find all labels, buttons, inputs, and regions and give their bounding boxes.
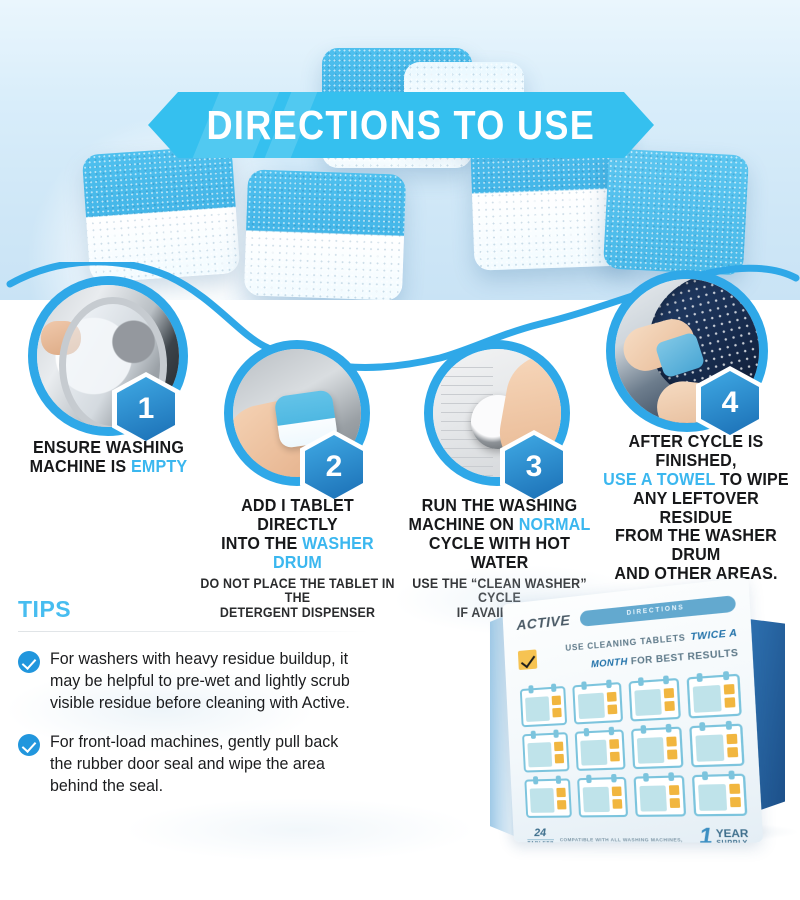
step-1-caption: ENSURE WASHING MACHINE IS EMPTY xyxy=(14,438,203,476)
steps-section: 1 ENSURE WASHING MACHINE IS EMPTY 2 ADD … xyxy=(0,262,800,602)
page-title-banner: DIRECTIONS TO USE xyxy=(148,92,654,158)
step-3-highlight: NORMAL xyxy=(519,514,591,534)
product-supply-number: 1 xyxy=(699,827,714,842)
calendar-icon xyxy=(686,674,742,719)
step-4-caption: AFTER CYCLE IS FINISHED, USE A TOWEL TO … xyxy=(600,432,791,583)
product-brand-label: ACTIVE xyxy=(516,611,570,633)
calendar-icon xyxy=(520,686,568,727)
step-1-line-2: MACHINE IS xyxy=(30,456,131,476)
step-4-line-4: FROM THE WASHER DRUM xyxy=(600,526,791,564)
calendar-icon xyxy=(633,775,686,817)
step-3-number: 3 xyxy=(505,435,563,499)
directions-to-use-infographic: DIRECTIONS TO USE 1 ENSURE WASHING MACHI… xyxy=(0,0,800,900)
tips-section: TIPS For washers with heavy residue buil… xyxy=(18,596,368,798)
tip-item: For washers with heavy residue buildup, … xyxy=(18,649,368,715)
product-usage-note: USE CLEANING TABLETS TWICE A MONTH FOR B… xyxy=(517,622,738,678)
calendar-icon xyxy=(572,682,622,725)
step-1-number: 1 xyxy=(117,377,175,441)
tip-2-text: For front-load machines, gently pull bac… xyxy=(50,732,358,798)
step-2-number: 2 xyxy=(305,435,363,499)
calendar-icon xyxy=(575,729,625,771)
calendar-icon xyxy=(692,774,748,817)
step-1-line-1: ENSURE WASHING xyxy=(14,438,203,457)
product-box-footer: 24 TABLETS COMPATIBLE WITH ALL WASHING M… xyxy=(527,826,749,843)
tip-item: For front-load machines, gently pull bac… xyxy=(18,732,368,798)
product-box-image: ACTIVE DIRECTIONS USE CLEANING TABLETS T… xyxy=(380,592,800,882)
product-compatibility-text: COMPATIBLE WITH ALL WASHING MACHINES, IN… xyxy=(560,837,693,843)
page-title: DIRECTIONS TO USE xyxy=(207,102,596,149)
step-3-line-2: MACHINE ON xyxy=(408,514,518,534)
check-circle-icon xyxy=(18,651,40,673)
step-4-highlight: USE A TOWEL xyxy=(603,469,715,489)
product-quantity-number: 24 xyxy=(527,827,554,839)
product-calendar-grid xyxy=(520,674,748,818)
product-note-line-2: FOR BEST RESULTS xyxy=(627,647,738,667)
product-directions-bar: DIRECTIONS xyxy=(580,595,736,627)
product-quantity: 24 TABLETS xyxy=(527,827,555,843)
step-4-line-1: AFTER CYCLE IS FINISHED, xyxy=(600,432,791,470)
step-2-line-2: INTO THE xyxy=(221,533,302,553)
product-supply-label: SUPPLY xyxy=(716,840,749,843)
step-4-line-2: TO WIPE xyxy=(715,469,789,489)
calendar-icon xyxy=(577,777,627,818)
step-2-line-1: ADD I TABLET DIRECTLY xyxy=(199,496,397,534)
calendar-icon xyxy=(628,678,681,722)
product-box-front-panel: ACTIVE DIRECTIONS USE CLEANING TABLETS T… xyxy=(502,577,763,843)
tip-1-text: For washers with heavy residue buildup, … xyxy=(50,649,358,715)
step-4-line-3: ANY LEFTOVER RESIDUE xyxy=(600,489,791,527)
product-supply-unit: YEAR xyxy=(716,829,749,840)
tips-divider xyxy=(18,631,368,632)
calendar-icon xyxy=(524,778,572,818)
step-4-number: 4 xyxy=(701,371,759,435)
tablet-block-right xyxy=(603,148,749,275)
checkbox-checked-icon xyxy=(518,649,537,670)
calendar-icon xyxy=(689,724,745,768)
product-note-line-1: USE CLEANING TABLETS xyxy=(565,633,686,653)
calendar-icon xyxy=(522,732,570,772)
step-1-highlight: EMPTY xyxy=(131,456,187,476)
calendar-icon xyxy=(630,727,683,770)
check-circle-icon xyxy=(18,734,40,756)
tips-title: TIPS xyxy=(18,596,368,623)
step-4-line-5: AND OTHER AREAS. xyxy=(600,564,791,583)
step-3-line-1: RUN THE WASHING xyxy=(401,496,599,515)
product-note-lines: USE CLEANING TABLETS TWICE A MONTH FOR B… xyxy=(543,622,739,677)
product-supply-badge: 1 YEAR SUPPLY xyxy=(699,827,750,843)
step-3-line-3: CYCLE WITH HOT WATER xyxy=(401,534,599,572)
product-quantity-label: TABLETS xyxy=(527,839,554,843)
